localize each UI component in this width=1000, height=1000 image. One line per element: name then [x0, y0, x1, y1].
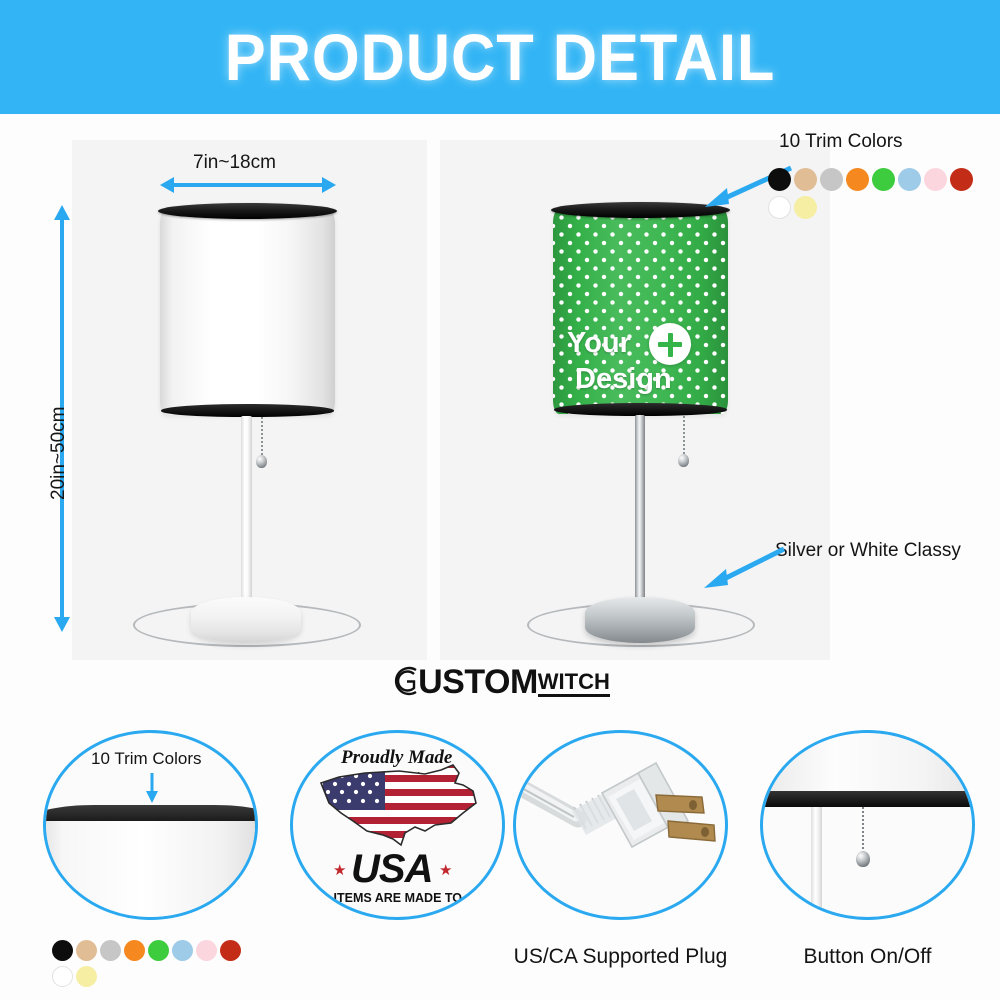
trim-swatch-light-blue[interactable]: [898, 168, 921, 191]
trim-swatch-gray[interactable]: [820, 168, 843, 191]
arrow-left-icon: [160, 177, 174, 193]
brand-name-bold: USTOM: [418, 665, 538, 699]
lamp-base: [191, 597, 301, 643]
design-line-2: Design: [575, 363, 672, 396]
trim-swatch-green[interactable]: [148, 940, 169, 961]
shade-surface: [160, 210, 335, 415]
usa-word: USA: [351, 847, 432, 892]
lamp-shade-white: [160, 210, 335, 415]
shade-trim-top: [158, 203, 337, 219]
arrow-down-icon: [54, 617, 70, 632]
trim-swatch-tan[interactable]: [76, 940, 97, 961]
trim-swatch-yellow[interactable]: [794, 196, 817, 219]
circle-trim-colors-label: 10 Trim Colors: [91, 749, 202, 769]
brand-c-icon: [390, 664, 420, 698]
trim-swatch-orange[interactable]: [846, 168, 869, 191]
feature-circle-made-in-usa: Proudly Made in the: [290, 730, 505, 920]
trim-swatch-orange[interactable]: [124, 940, 145, 961]
width-dimension-label: 7in~18cm: [193, 152, 276, 174]
custom-design-artwork: Your Design: [563, 327, 723, 407]
trim-swatch-white[interactable]: [768, 196, 791, 219]
circle-pull-knob[interactable]: [856, 851, 870, 867]
trim-swatch-black[interactable]: [52, 940, 73, 961]
trim-swatch-white[interactable]: [52, 966, 73, 987]
trim-swatch-black[interactable]: [768, 168, 791, 191]
lamp-pole-silver: [635, 415, 645, 601]
trim-swatch-green[interactable]: [872, 168, 895, 191]
arrow-right-icon: [322, 177, 336, 193]
brand-name-light: WITCH: [538, 671, 610, 697]
header-banner: PRODUCT DETAIL: [0, 0, 1000, 114]
plug-caption: US/CA Supported Plug: [483, 945, 758, 969]
feature-circle-button-onoff: [760, 730, 975, 920]
lamp-pole: [241, 416, 252, 601]
design-line-1: Your: [567, 327, 631, 360]
pull-knob[interactable]: [256, 455, 267, 468]
height-dimension-label: 20in~50cm: [48, 407, 70, 500]
pull-chain-silver[interactable]: [683, 416, 685, 458]
power-plug-icon: [516, 733, 728, 920]
trim-swatch-light-blue[interactable]: [172, 940, 193, 961]
usa-badge: Proudly Made in the: [293, 733, 502, 917]
shade-surface-custom: Your Design: [553, 209, 728, 414]
arrow-down-icon-small: [142, 771, 162, 805]
trim-color-swatches-top[interactable]: [768, 168, 1000, 224]
plus-circle-icon: [649, 323, 691, 365]
trim-colors-callout-label: 10 Trim Colors: [779, 131, 903, 153]
product-detail-page: PRODUCT DETAIL 7in~18cm 20in~50cm: [0, 0, 1000, 1000]
trim-swatch-red[interactable]: [220, 940, 241, 961]
trim-color-swatches-bottom[interactable]: [52, 940, 267, 992]
base-finish-callout-label: Silver or White Classy: [775, 540, 961, 562]
circle-trim-band-2: [760, 791, 975, 807]
trim-swatch-tan[interactable]: [794, 168, 817, 191]
lamp-shade-green: Your Design: [553, 209, 728, 414]
trim-swatch-gray[interactable]: [100, 940, 121, 961]
usa-subtitle: ALL ITEMS ARE MADE TO ORDER!: [306, 891, 505, 905]
star-right-icon: ★: [439, 861, 452, 879]
star-left-icon: ★: [333, 861, 346, 879]
arrow-up-icon: [54, 205, 70, 220]
trim-swatch-red[interactable]: [950, 168, 973, 191]
trim-swatch-pink[interactable]: [196, 940, 217, 961]
feature-circle-plug: [513, 730, 728, 920]
feature-circle-trim-colors: 10 Trim Colors: [43, 730, 258, 920]
circle-shade-surface: [43, 821, 258, 920]
button-onoff-caption: Button On/Off: [745, 945, 990, 969]
width-dimension-line: [172, 183, 322, 187]
page-title: PRODUCT DETAIL: [225, 19, 776, 95]
circle-pull-chain[interactable]: [862, 807, 864, 855]
lamp-base-silver: [585, 597, 695, 643]
base-finish-arrow-icon: [700, 545, 790, 590]
brand-logo: USTOM WITCH: [0, 664, 1000, 703]
trim-swatch-pink[interactable]: [924, 168, 947, 191]
pull-knob-silver[interactable]: [678, 454, 689, 467]
trim-swatch-yellow[interactable]: [76, 966, 97, 987]
circle-pole: [811, 807, 822, 920]
pull-chain[interactable]: [261, 417, 263, 459]
usa-map-flag-icon: [313, 761, 488, 851]
